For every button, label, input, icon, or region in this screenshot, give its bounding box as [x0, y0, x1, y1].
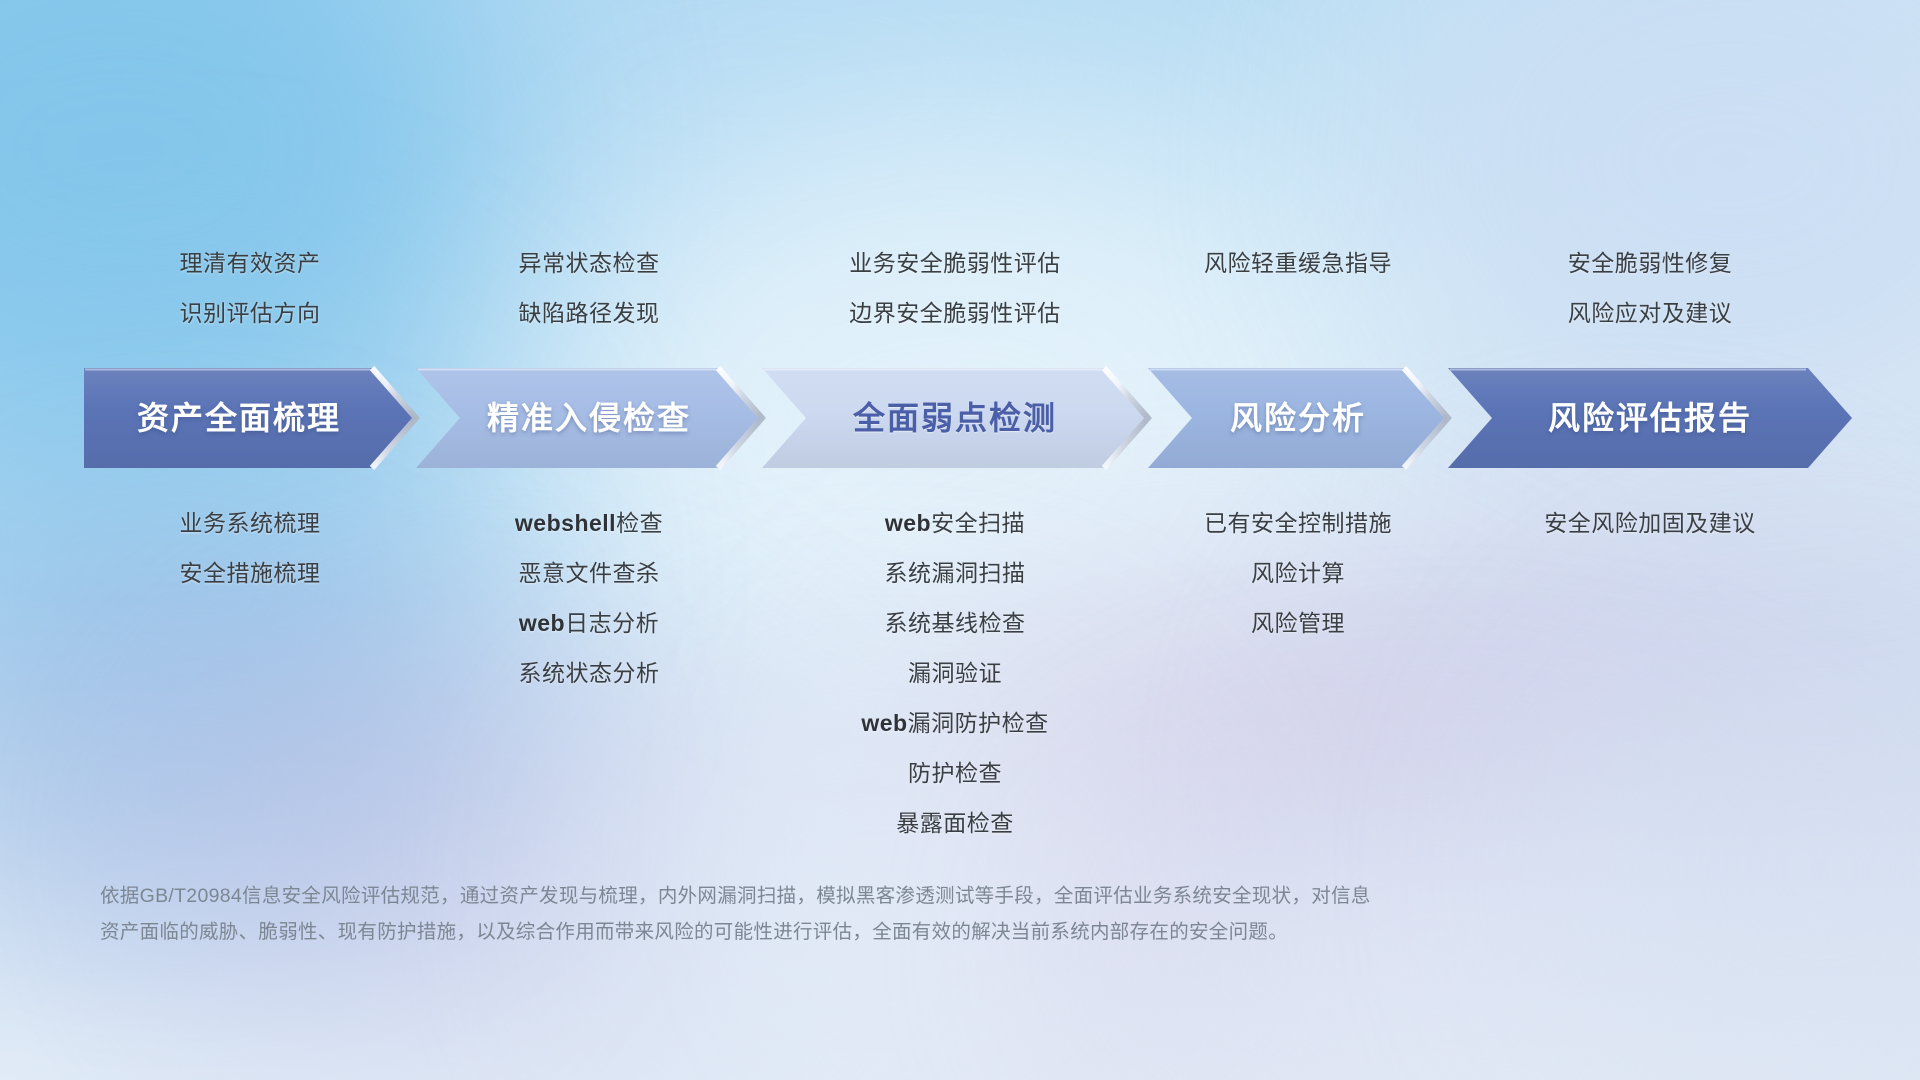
bottom-label-cjk: 风险计算	[1251, 560, 1345, 586]
bottom-label-cjk: 系统状态分析	[519, 660, 660, 686]
chevron-risk-report[interactable]	[1448, 368, 1852, 468]
footer-line-1: 依据GB/T20984信息安全风险评估规范，通过资产发现与梳理，内外网漏洞扫描，…	[100, 878, 1720, 914]
chevron-risk-analysis[interactable]	[1148, 368, 1448, 468]
chevron-weakness-detection[interactable]	[762, 368, 1148, 468]
bottom-label-cjk: 系统漏洞扫描	[885, 560, 1026, 586]
bottom-label-latin: web	[861, 710, 907, 736]
bottom-label-latin: web	[519, 610, 565, 636]
bottom-label-cjk: 业务系统梳理	[180, 510, 321, 536]
top-label: 安全脆弱性修复	[1390, 238, 1910, 288]
chevron-intrusion-check[interactable]	[416, 368, 762, 468]
top-label: 边界安全脆弱性评估	[695, 288, 1215, 338]
stage-bottom-labels-risk-report: 安全风险加固及建议	[1390, 498, 1910, 548]
process-diagram: 理清有效资产 识别评估方向 异常状态检查 缺陷路径发现 业务安全脆弱性评估 边界…	[0, 0, 1920, 1080]
bottom-label-cjk: 恶意文件查杀	[519, 560, 660, 586]
stage-top-labels-risk-report: 安全脆弱性修复 风险应对及建议	[1390, 238, 1910, 338]
bottom-label-cjk: 安全风险加固及建议	[1544, 510, 1756, 536]
footer-description: 依据GB/T20984信息安全风险评估规范，通过资产发现与梳理，内外网漏洞扫描，…	[100, 878, 1720, 950]
bottom-label: 风险计算	[1038, 548, 1558, 598]
footer-line-2: 资产面临的威胁、脆弱性、现有防护措施，以及综合作用而带来风险的可能性进行评估，全…	[100, 914, 1720, 950]
top-label: 风险应对及建议	[1390, 288, 1910, 338]
bottom-label-cjk: 日志分析	[565, 610, 659, 636]
bottom-label: 暴露面检查	[695, 798, 1215, 848]
bottom-label-cjk: 防护检查	[908, 760, 1002, 786]
bottom-label: web漏洞防护检查	[695, 698, 1215, 748]
process-chevron-band	[0, 366, 1920, 466]
bottom-label: 防护检查	[695, 748, 1215, 798]
bottom-label-cjk: 安全措施梳理	[180, 560, 321, 586]
bottom-label: 漏洞验证	[695, 648, 1215, 698]
bottom-label-cjk: 漏洞验证	[908, 660, 1002, 686]
bottom-label: 安全风险加固及建议	[1390, 498, 1910, 548]
bottom-label-cjk: 暴露面检查	[896, 810, 1014, 836]
bottom-label-cjk: 风险管理	[1251, 610, 1345, 636]
bottom-label-latin: webshell	[515, 510, 616, 536]
bottom-label: 风险管理	[1038, 598, 1558, 648]
bottom-label-cjk: 漏洞防护检查	[908, 710, 1049, 736]
bottom-label-cjk: 安全扫描	[931, 510, 1025, 536]
bottom-label-cjk: 系统基线检查	[885, 610, 1026, 636]
chevron-asset-inventory[interactable]	[84, 368, 416, 468]
bottom-label-cjk: 检查	[616, 510, 663, 536]
bottom-label-cjk: 已有安全控制措施	[1204, 510, 1392, 536]
bottom-label-latin: web	[885, 510, 931, 536]
